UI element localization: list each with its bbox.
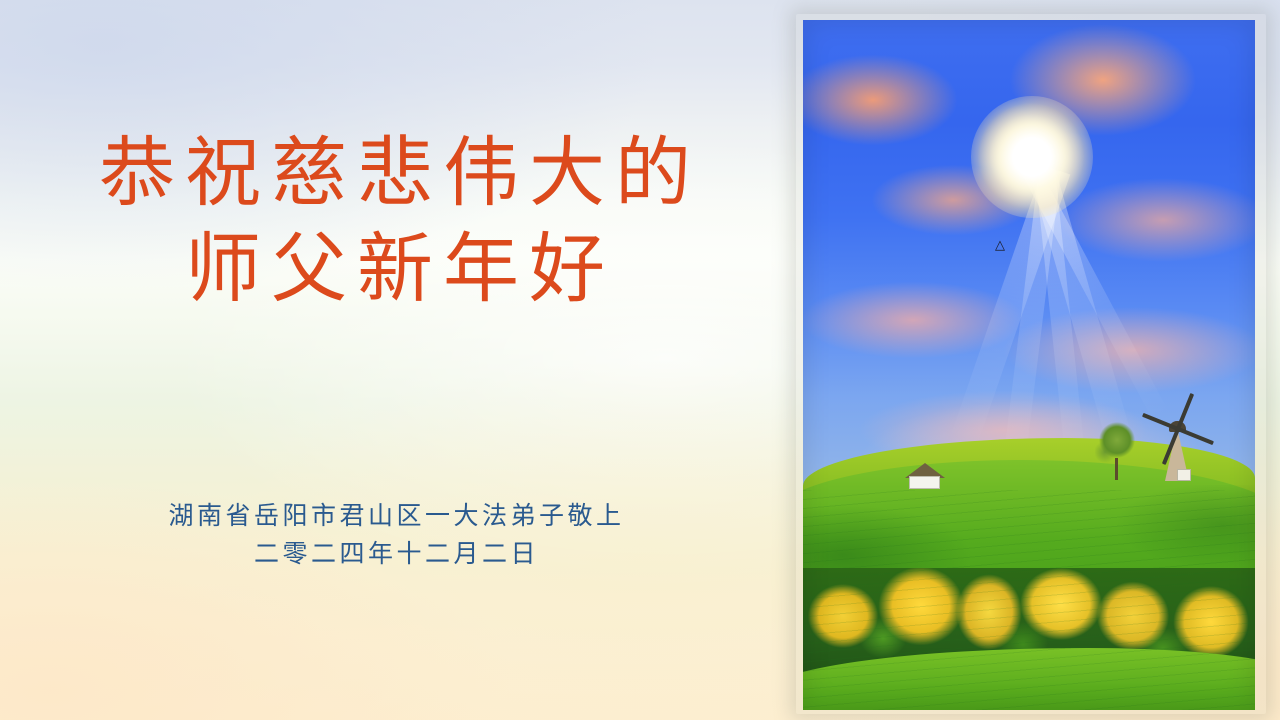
farmhouse-body (909, 476, 940, 489)
signature-line-2: 二零二四年十二月二日 (0, 536, 790, 574)
title-block: 恭祝慈悲伟大的 师父新年好 (0, 126, 790, 318)
scenery-photo: △ (803, 20, 1255, 710)
text-area: 恭祝慈悲伟大的 师父新年好 湖南省岳阳市君山区一大法弟子敬上 二零二四年十二月二… (0, 0, 790, 720)
sun-icon (971, 96, 1093, 218)
windmill-icon (1141, 403, 1215, 481)
farmhouse-icon (905, 463, 945, 489)
title-line-2: 师父新年好 (0, 222, 790, 318)
field-furrows (803, 490, 1255, 710)
windmill-base (1177, 469, 1191, 481)
signature-block: 湖南省岳阳市君山区一大法弟子敬上 二零二四年十二月二日 (0, 498, 790, 574)
signature-line-1: 湖南省岳阳市君山区一大法弟子敬上 (0, 498, 790, 536)
greeting-card: 恭祝慈悲伟大的 师父新年好 湖南省岳阳市君山区一大法弟子敬上 二零二四年十二月二… (0, 0, 1280, 720)
tree-trunk (1115, 458, 1118, 480)
bird-icon: △ (995, 242, 1010, 250)
title-line-1: 恭祝慈悲伟大的 (0, 126, 790, 222)
